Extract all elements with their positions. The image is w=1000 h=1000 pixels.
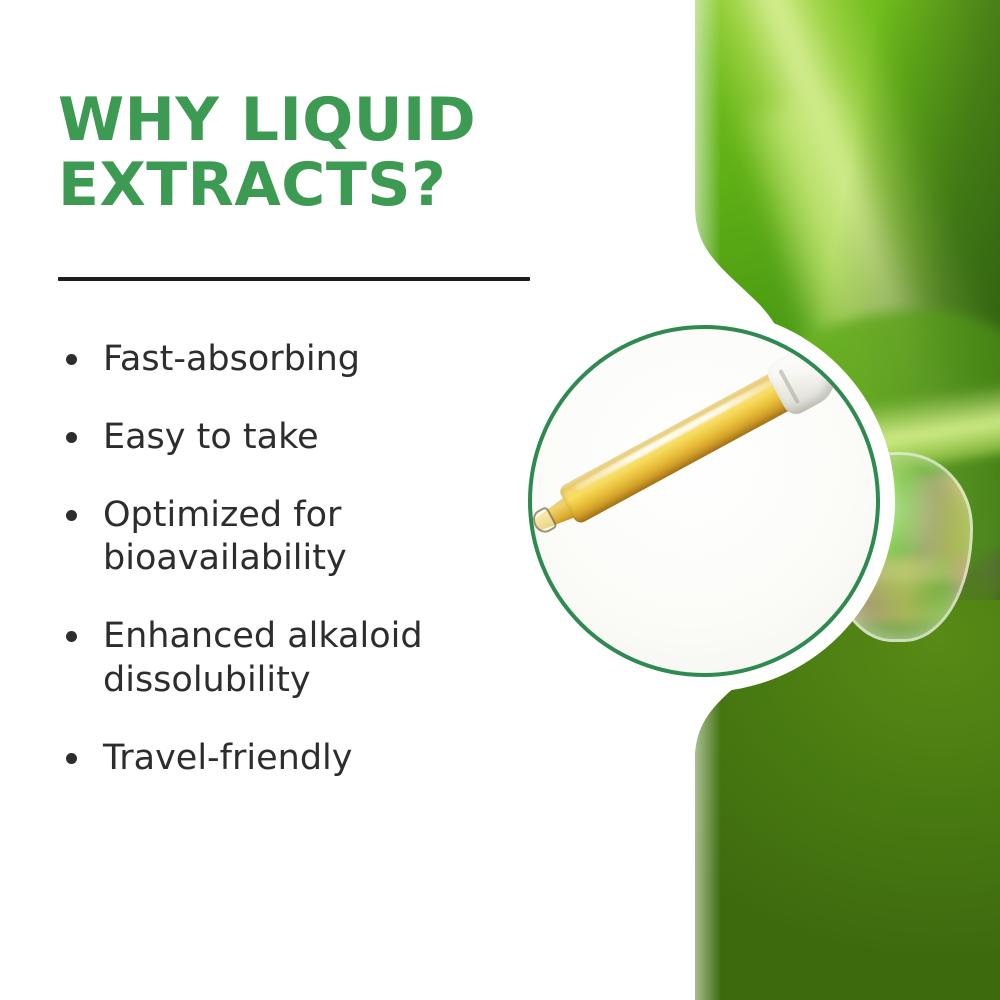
infographic-canvas: WHY LIQUID EXTRACTS? Fast-absorbing Easy…: [0, 0, 1000, 1000]
list-item: Travel-friendly: [58, 737, 518, 781]
bullet-dot-icon: [66, 753, 77, 764]
inset-green-ring: [528, 325, 880, 677]
list-item: Fast-absorbing: [58, 338, 518, 382]
title-divider: [58, 277, 530, 281]
benefit-label: Travel-friendly: [103, 738, 352, 778]
pipette-glass-highlight: [574, 375, 779, 491]
benefit-label: Easy to take: [103, 417, 319, 457]
benefit-label: Optimized for bioavailability: [103, 495, 347, 579]
text-column: WHY LIQUID EXTRACTS? Fast-absorbing Easy…: [0, 0, 560, 1000]
bullet-dot-icon: [66, 432, 77, 443]
pipette-bulb-seam: [778, 369, 800, 404]
list-item: Enhanced alkaloid dissolubility: [58, 615, 518, 703]
pipette-amber-liquid: [558, 363, 808, 525]
benefit-label: Enhanced alkaloid dissolubility: [103, 616, 423, 700]
bullet-dot-icon: [66, 510, 77, 521]
bullet-dot-icon: [66, 354, 77, 365]
page-title: WHY LIQUID EXTRACTS?: [58, 88, 538, 218]
product-inset: [513, 310, 895, 692]
bullet-dot-icon: [66, 631, 77, 642]
benefits-list: Fast-absorbing Easy to take Optimized fo…: [58, 338, 518, 780]
benefit-label: Fast-absorbing: [103, 339, 360, 379]
list-item: Easy to take: [58, 416, 518, 460]
list-item: Optimized for bioavailability: [58, 494, 518, 582]
